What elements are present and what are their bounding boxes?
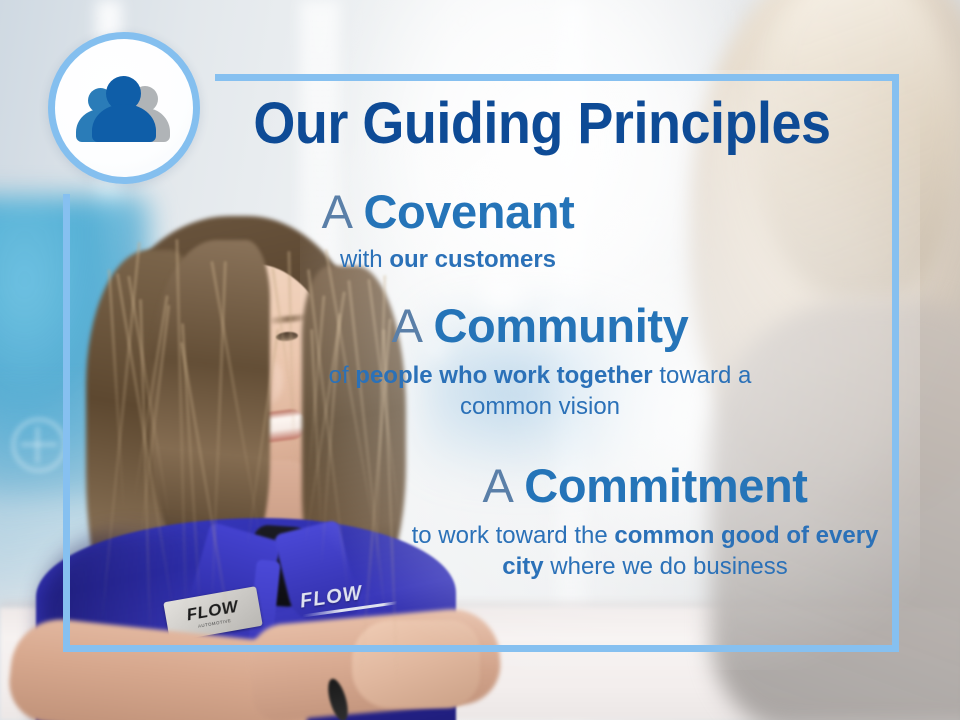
associate-hands	[352, 620, 480, 708]
principle-body-text: with	[340, 246, 389, 273]
principle-article: A	[322, 185, 351, 238]
principle-heading: A Covenant	[208, 188, 688, 237]
principle-body-text: of	[329, 362, 356, 389]
principle-body-emphasis: people who work together	[355, 362, 652, 389]
principle-keyword: Community	[433, 299, 688, 352]
principle-body-emphasis: our customers	[389, 246, 556, 273]
people-badge	[48, 32, 200, 184]
principle-heading: A Commitment	[400, 462, 890, 511]
principle-covenant: A Covenant with our customers	[208, 188, 688, 276]
principle-keyword: Covenant	[363, 185, 574, 238]
principle-body: with our customers	[208, 245, 688, 276]
principle-article: A	[482, 459, 511, 512]
frame-bottom-border	[63, 645, 899, 652]
frame-right-border	[892, 74, 899, 652]
principle-body: to work toward the common good of every …	[400, 521, 890, 582]
principle-body-text: where we do business	[544, 553, 788, 580]
principle-body: of people who work together toward a com…	[300, 361, 780, 422]
principle-article: A	[392, 299, 421, 352]
principle-commitment: A Commitment to work toward the common g…	[400, 462, 890, 582]
poster-canvas: FLOW AUTOMOTIVE FLOW	[0, 0, 960, 720]
principle-keyword: Commitment	[524, 459, 807, 512]
frame-left-border	[63, 194, 70, 652]
principle-community: A Community of people who work together …	[300, 302, 780, 422]
principle-heading: A Community	[300, 302, 780, 351]
people-group-icon	[76, 76, 172, 140]
page-title: Our Guiding Principles	[235, 94, 849, 153]
frame-top-border	[215, 74, 899, 81]
principle-body-text: to work toward the	[412, 522, 615, 549]
